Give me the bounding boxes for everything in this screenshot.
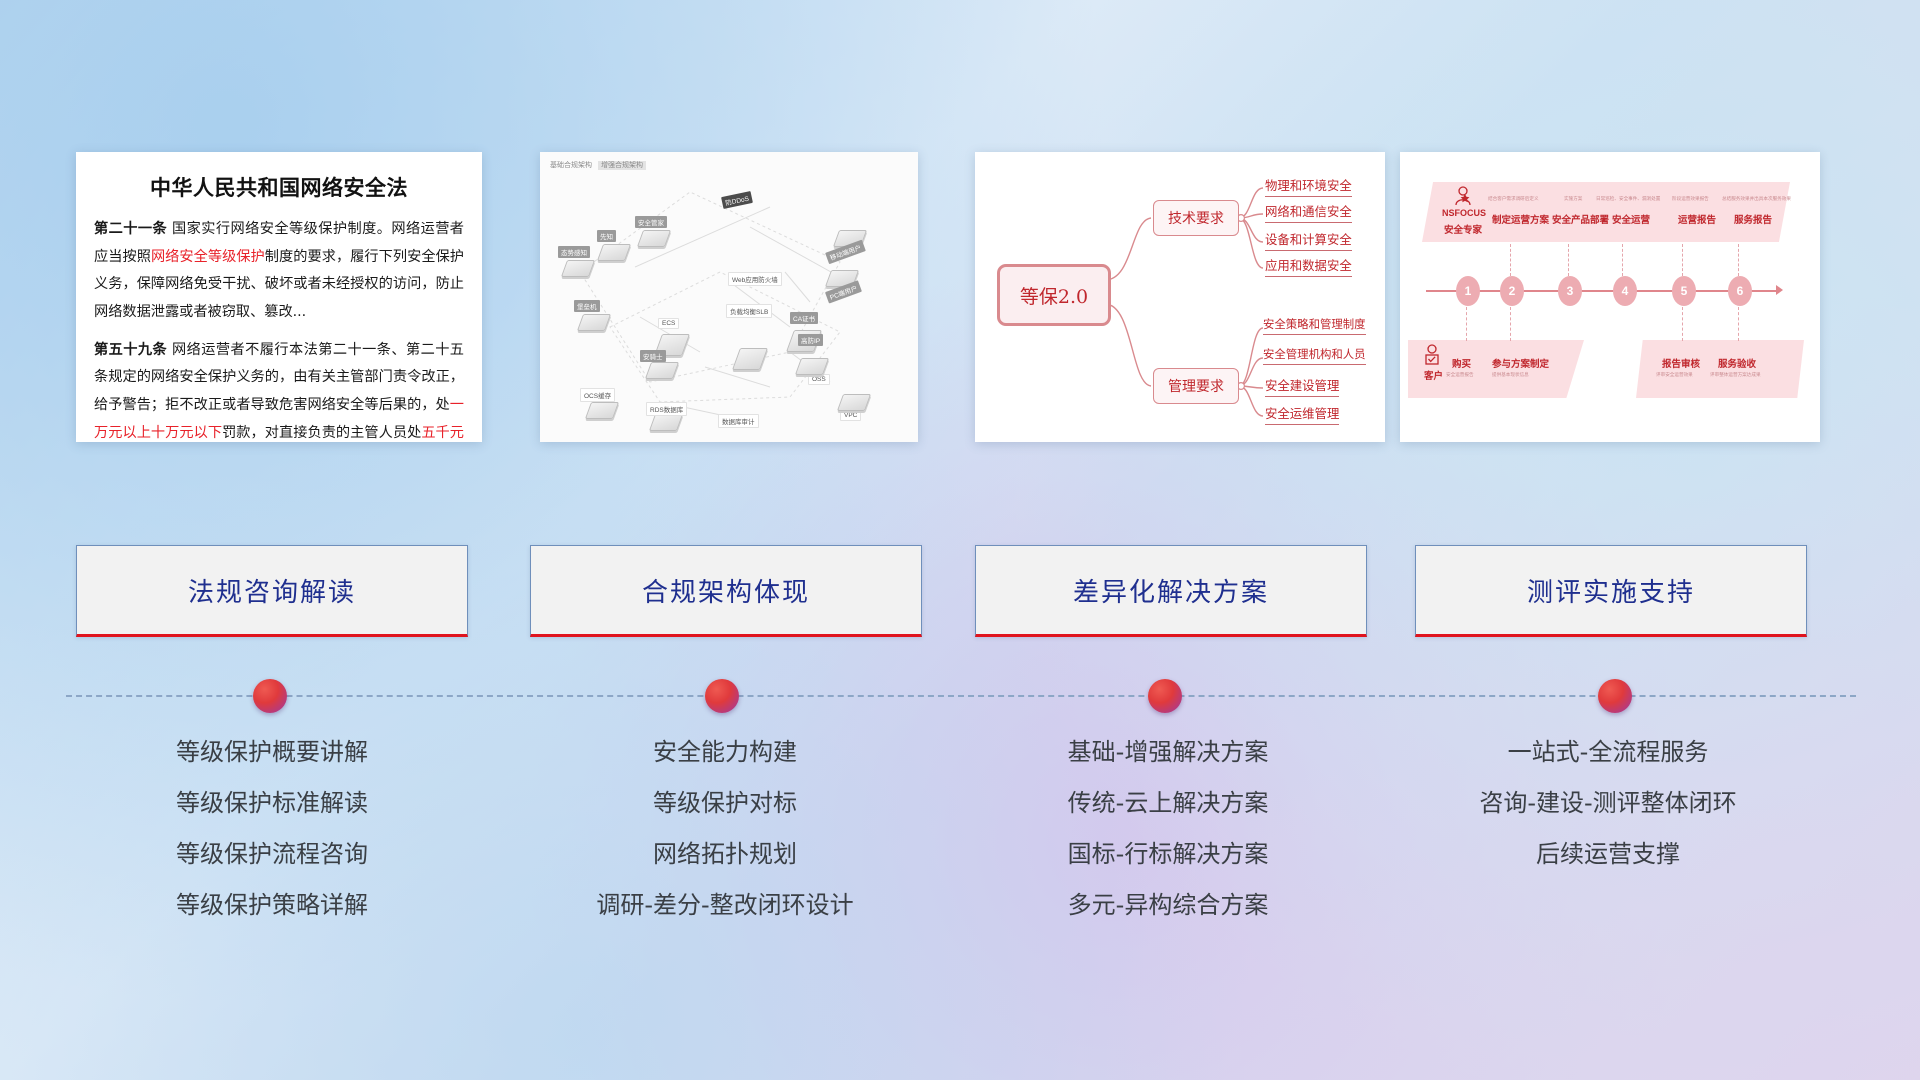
timeline-step-4: 4 bbox=[1613, 276, 1637, 306]
timeline-step-5: 5 bbox=[1672, 276, 1696, 306]
topology-node-ecs: ECS bbox=[658, 318, 679, 329]
list-item: 等级保护流程咨询 bbox=[57, 842, 487, 866]
expert-name: NSFOCUS bbox=[1442, 208, 1486, 218]
mindmap-leaf-device-compute: 设备和计算安全 bbox=[1265, 230, 1352, 251]
timeline-arrow-icon bbox=[1776, 285, 1783, 295]
timeline-marker-3[interactable] bbox=[1148, 679, 1182, 713]
topology-node-anqishi: 安骑士 bbox=[640, 350, 666, 362]
topology-node-bastion-host: 堡垒机 bbox=[574, 300, 600, 312]
list-item: 一站式-全流程服务 bbox=[1393, 740, 1823, 764]
topology-node-waf: Web应用防火墙 bbox=[728, 272, 782, 286]
bottom-left-main-2: 参与方案制定 bbox=[1492, 356, 1549, 370]
bottom-right-sub-1: 评审安全运营效果 bbox=[1656, 372, 1693, 378]
list-item: 调研-差分-整改闭环设计 bbox=[510, 893, 940, 917]
mindmap-branch-management: 管理要求 bbox=[1153, 368, 1239, 404]
list-item: 后续运营支撑 bbox=[1393, 842, 1823, 866]
customer-role: 客户 bbox=[1424, 368, 1443, 382]
timeline-step-2: 2 bbox=[1500, 276, 1524, 306]
timeline-marker-1[interactable] bbox=[253, 679, 287, 713]
timeline-step-3: 3 bbox=[1558, 276, 1582, 306]
mindmap-leaf-app-data: 应用和数据安全 bbox=[1265, 256, 1352, 277]
top-main-2: 安全产品部署 bbox=[1552, 212, 1609, 226]
mindmap-leaf-security-org: 安全管理机构和人员 bbox=[1263, 346, 1366, 365]
list-item: 等级保护标准解读 bbox=[57, 791, 487, 815]
card-mindmap: 等保2.0 技术要求 物理和环境安全 网络和通信安全 设备和计算安全 应用和数据… bbox=[975, 152, 1385, 442]
bottom-list-2: 安全能力构建 等级保护对标 网络拓扑规划 调研-差分-整改闭环设计 bbox=[510, 740, 940, 944]
customer-person-icon bbox=[1422, 344, 1442, 366]
topology-node-ocs-cache: OCS缓存 bbox=[580, 388, 615, 402]
list-item: 国标-行标解决方案 bbox=[953, 842, 1383, 866]
card-network-topology: 基础合规架构增强合规架构 态势感知 先知 安全管家 防DD bbox=[540, 152, 918, 442]
list-item: 等级保护对标 bbox=[510, 791, 940, 815]
top-main-4: 运营报告 bbox=[1678, 212, 1716, 226]
topology-tabs: 基础合规架构增强合规架构 bbox=[550, 160, 652, 170]
title-bar-assessment-support[interactable]: 测评实施支持 bbox=[1415, 545, 1807, 637]
bottom-left-sub-1: 安全运营报告 bbox=[1446, 372, 1474, 378]
timeline-step-6: 6 bbox=[1728, 276, 1752, 306]
bottom-right-main-1: 报告审核 bbox=[1662, 356, 1700, 370]
mindmap-branch-technical: 技术要求 bbox=[1153, 200, 1239, 236]
topology-node-slb: 负载均衡SLB bbox=[726, 304, 772, 318]
topology-node-situational-awareness: 态势感知 bbox=[558, 246, 590, 258]
article-21-highlight: 网络安全等级保护 bbox=[151, 249, 265, 265]
topology-node-high-defense-ip: 高防IP bbox=[798, 334, 823, 346]
tab-enhanced-architecture[interactable]: 增强合规架构 bbox=[598, 161, 646, 170]
card-service-timeline: NSFOCUS 安全专家 结合客户需求调研后定义 制定运营方案 实施方案 安全产… bbox=[1400, 152, 1820, 442]
timeline-step-1: 1 bbox=[1456, 276, 1480, 306]
topology-node-security-steward: 安全管家 bbox=[635, 216, 667, 228]
top-sub-5: 总结服务效果并出具本次服务效果 bbox=[1722, 196, 1791, 202]
title-bar-differentiated-solution[interactable]: 差异化解决方案 bbox=[975, 545, 1367, 637]
title-bar-regulation-consulting[interactable]: 法规咨询解读 bbox=[76, 545, 468, 637]
timeline-marker-4[interactable] bbox=[1598, 679, 1632, 713]
article-59-label: 第五十九条 bbox=[94, 342, 167, 358]
expert-person-icon bbox=[1452, 186, 1474, 206]
list-item: 咨询-建设-测评整体闭环 bbox=[1393, 791, 1823, 815]
list-item: 等级保护概要讲解 bbox=[57, 740, 487, 764]
list-item: 基础-增强解决方案 bbox=[953, 740, 1383, 764]
mindmap-leaf-network-comm: 网络和通信安全 bbox=[1265, 202, 1352, 223]
topology-node-xianzhi: 先知 bbox=[597, 230, 616, 242]
bottom-list-3: 基础-增强解决方案 传统-云上解决方案 国标-行标解决方案 多元-异构综合方案 bbox=[953, 740, 1383, 944]
list-item: 等级保护策略详解 bbox=[57, 893, 487, 917]
timeline-dashed-line bbox=[66, 695, 1856, 697]
card-law-document: 中华人民共和国网络安全法 第二十一条 国家实行网络安全等级保护制度。网络运营者应… bbox=[76, 152, 482, 442]
mindmap-leaf-construction-mgmt: 安全建设管理 bbox=[1265, 376, 1339, 397]
topology-node-rds: RDS数据库 bbox=[646, 402, 687, 416]
timeline-marker-2[interactable] bbox=[705, 679, 739, 713]
topology-node-db-audit: 数据库审计 bbox=[718, 414, 759, 428]
title-bar-compliance-architecture[interactable]: 合规架构体现 bbox=[530, 545, 922, 637]
mindmap-leaf-security-policy: 安全策略和管理制度 bbox=[1263, 316, 1366, 335]
mindmap-leaf-ops-mgmt: 安全运维管理 bbox=[1265, 404, 1339, 425]
tab-basic-architecture[interactable]: 基础合规架构 bbox=[550, 162, 592, 169]
topology-node-oss: OSS bbox=[808, 374, 830, 385]
expert-role: 安全专家 bbox=[1444, 222, 1482, 236]
list-item: 安全能力构建 bbox=[510, 740, 940, 764]
title-label-2: 合规架构体现 bbox=[642, 572, 810, 609]
top-main-5: 服务报告 bbox=[1734, 212, 1772, 226]
top-sub-1: 结合客户需求调研后定义 bbox=[1488, 196, 1539, 202]
law-title: 中华人民共和国网络安全法 bbox=[76, 172, 482, 202]
bottom-right-main-2: 服务验收 bbox=[1718, 356, 1756, 370]
top-main-3: 安全运营 bbox=[1612, 212, 1650, 226]
article-21-label: 第二十一条 bbox=[94, 221, 167, 237]
law-article-59: 第五十九条 网络运营者不履行本法第二十一条、第二十五条规定的网络安全保护义务的，… bbox=[94, 337, 464, 442]
title-label-3: 差异化解决方案 bbox=[1073, 572, 1269, 609]
article-59-text-b: 罚款，对直接负责的主管人员处 bbox=[222, 425, 421, 441]
top-sub-4: 阶段运营效果报告 bbox=[1672, 196, 1709, 202]
top-sub-3: 日常巡检、安全事件、漏洞处置 bbox=[1596, 196, 1660, 202]
bottom-list-1: 等级保护概要讲解 等级保护标准解读 等级保护流程咨询 等级保护策略详解 bbox=[57, 740, 487, 944]
mindmap-leaf-physical-env: 物理和环境安全 bbox=[1265, 176, 1352, 197]
topology-node-ca-cert: CA证书 bbox=[790, 312, 818, 324]
topology-node-vpc: VPC bbox=[840, 410, 861, 421]
title-label-1: 法规咨询解读 bbox=[188, 572, 356, 609]
mindmap-root-node: 等保2.0 bbox=[997, 264, 1111, 326]
top-sub-2: 实施方案 bbox=[1564, 196, 1582, 202]
bottom-list-4: 一站式-全流程服务 咨询-建设-测评整体闭环 后续运营支撑 bbox=[1393, 740, 1823, 893]
title-label-4: 测评实施支持 bbox=[1527, 572, 1695, 609]
bottom-left-sub-2: 提供基本现状信息 bbox=[1492, 372, 1529, 378]
list-item: 传统-云上解决方案 bbox=[953, 791, 1383, 815]
top-main-1: 制定运营方案 bbox=[1492, 212, 1549, 226]
bottom-right-sub-2: 评审整体运营方案达成果 bbox=[1710, 372, 1761, 378]
list-item: 网络拓扑规划 bbox=[510, 842, 940, 866]
list-item: 多元-异构综合方案 bbox=[953, 893, 1383, 917]
bottom-left-main-1: 购买 bbox=[1452, 356, 1471, 370]
law-article-21: 第二十一条 国家实行网络安全等级保护制度。网络运营者应当按照网络安全等级保护制度… bbox=[94, 216, 464, 327]
